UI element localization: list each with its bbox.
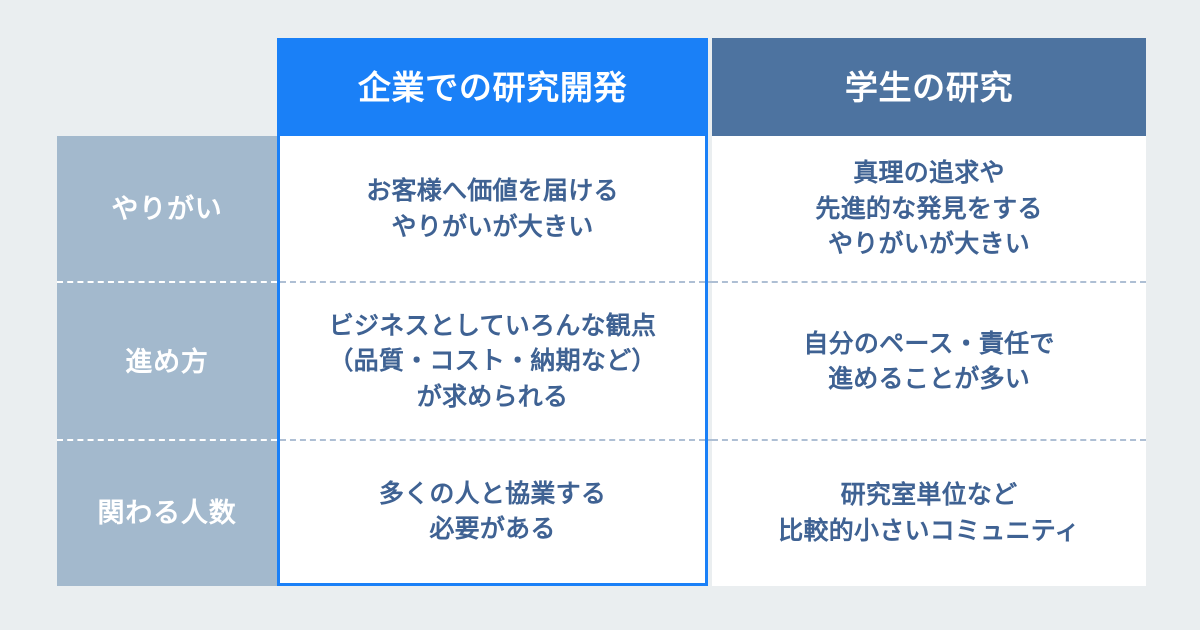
table-cell-enterprise-susumekata: ビジネスとしていろんな観点 （品質・コスト・納期など） が求められる: [277, 283, 708, 441]
row-label-text: 関わる人数: [97, 500, 236, 527]
row-label-text: やりがい: [111, 196, 222, 223]
table-cell-enterprise-kakawaru-ninzu: 多くの人と協業する 必要がある: [277, 441, 708, 586]
cell-line: やりがいが大きい: [366, 210, 619, 246]
cell-line: 必要がある: [379, 512, 606, 548]
table-cell-student-susumekata: 自分のペース・責任で 進めることが多い: [712, 283, 1146, 441]
cell-line: 自分のペース・責任で: [803, 327, 1054, 363]
cell-text: 真理の追求や 先進的な発見をする やりがいが大きい: [815, 156, 1042, 263]
cell-line: が求められる: [328, 380, 656, 416]
cell-text: 研究室単位など 比較的小さいコミュニティ: [778, 478, 1080, 549]
comparison-table: 企業での研究開発 学生の研究 やりがい お客様へ価値を届ける やりがいが大きい …: [57, 38, 1146, 586]
column-header-label: 学生の研究: [845, 71, 1013, 104]
row-label-yarigai: やりがい: [57, 136, 277, 283]
column-header-student-research: 学生の研究: [712, 38, 1146, 136]
cell-line: 進めることが多い: [803, 362, 1054, 398]
cell-text: ビジネスとしていろんな観点 （品質・コスト・納期など） が求められる: [328, 309, 656, 416]
cell-line: 先進的な発見をする: [815, 192, 1042, 228]
cell-line: ビジネスとしていろんな観点: [328, 309, 656, 345]
row-label-kakawaru-ninzu: 関わる人数: [57, 441, 277, 586]
cell-line: 真理の追求や: [815, 156, 1042, 192]
column-header-label: 企業での研究開発: [358, 71, 627, 104]
cell-line: 研究室単位など: [778, 478, 1080, 514]
row-label-text: 進め方: [125, 349, 208, 376]
cell-text: 自分のペース・責任で 進めることが多い: [803, 327, 1054, 398]
table-cell-student-kakawaru-ninzu: 研究室単位など 比較的小さいコミュニティ: [712, 441, 1146, 586]
cell-line: 比較的小さいコミュニティ: [778, 514, 1080, 550]
table-corner-blank: [57, 38, 277, 136]
cell-text: お客様へ価値を届ける やりがいが大きい: [366, 174, 619, 245]
table-cell-enterprise-yarigai: お客様へ価値を届ける やりがいが大きい: [277, 136, 708, 283]
cell-line: （品質・コスト・納期など）: [328, 344, 656, 380]
column-header-enterprise-rnd: 企業での研究開発: [277, 38, 708, 136]
comparison-table-slide: 企業での研究開発 学生の研究 やりがい お客様へ価値を届ける やりがいが大きい …: [0, 0, 1200, 630]
cell-line: お客様へ価値を届ける: [366, 174, 619, 210]
cell-line: 多くの人と協業する: [379, 477, 606, 513]
table-cell-student-yarigai: 真理の追求や 先進的な発見をする やりがいが大きい: [712, 136, 1146, 283]
row-label-susumekata: 進め方: [57, 283, 277, 441]
cell-line: やりがいが大きい: [815, 227, 1042, 263]
cell-text: 多くの人と協業する 必要がある: [379, 477, 606, 548]
